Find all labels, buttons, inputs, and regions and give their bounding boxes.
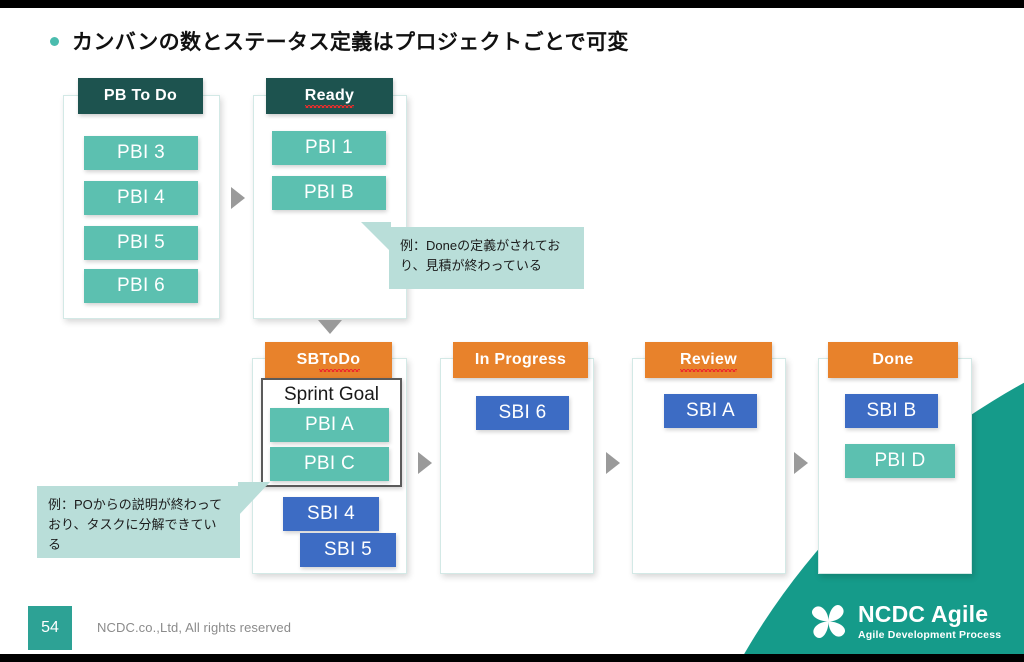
column-header-label: Done bbox=[872, 351, 913, 369]
column-header-label-misspelled: ToDo bbox=[319, 351, 360, 369]
page-title-text: カンバンの数とステータス定義はプロジェクトごとで可変 bbox=[72, 26, 629, 56]
card-sbi-5[interactable]: SBI 5 bbox=[300, 533, 396, 567]
card-label: SBI 6 bbox=[499, 402, 547, 424]
column-header-ready[interactable]: Ready bbox=[266, 78, 393, 114]
card-sbi-6[interactable]: SBI 6 bbox=[476, 396, 569, 430]
page-number: 54 bbox=[41, 619, 59, 637]
callout-sb-todo-definition: 例：POからの説明が終わっており、タスクに分解できている bbox=[37, 486, 240, 558]
logo-title: NCDC Agile bbox=[858, 603, 1001, 626]
flow-arrow-in-progress-to-review bbox=[606, 452, 620, 474]
page-number-badge: 54 bbox=[28, 606, 72, 650]
logo-text-block: NCDC Agile Agile Development Process bbox=[858, 603, 1001, 641]
card-pbi-4[interactable]: PBI 4 bbox=[84, 181, 198, 215]
card-pbi-6[interactable]: PBI 6 bbox=[84, 269, 198, 303]
column-header-sb-todo[interactable]: SB ToDo bbox=[265, 342, 392, 378]
page-title: カンバンの数とステータス定義はプロジェクトごとで可変 bbox=[50, 26, 629, 56]
card-label: PBI A bbox=[305, 414, 354, 436]
callout-text: 例：POからの説明が終わっており、タスクに分解できている bbox=[48, 497, 222, 552]
column-header-label: Ready bbox=[305, 87, 355, 105]
bullet-icon bbox=[50, 37, 59, 46]
column-header-review[interactable]: Review bbox=[645, 342, 772, 378]
flow-arrow-review-to-done bbox=[794, 452, 808, 474]
flow-arrow-sb-todo-to-in-progress bbox=[418, 452, 432, 474]
flow-arrow-pb-to-ready bbox=[231, 187, 245, 209]
card-label: PBI B bbox=[304, 182, 354, 204]
column-header-in-progress[interactable]: In Progress bbox=[453, 342, 588, 378]
letterbox-bottom bbox=[0, 654, 1024, 662]
pinwheel-logo-icon bbox=[808, 601, 849, 642]
slide-canvas: カンバンの数とステータス定義はプロジェクトごとで可変 PB To Do PBI … bbox=[0, 0, 1024, 662]
logo-tagline: Agile Development Process bbox=[858, 630, 1001, 641]
flow-arrow-ready-to-sb-todo bbox=[318, 320, 342, 334]
column-header-pb-to-do[interactable]: PB To Do bbox=[78, 78, 203, 114]
sprint-goal-label: Sprint Goal bbox=[263, 384, 400, 406]
card-label: SBI B bbox=[866, 400, 916, 422]
letterbox-top bbox=[0, 0, 1024, 8]
card-pbi-d[interactable]: PBI D bbox=[845, 444, 955, 478]
column-header-label-prefix: SB bbox=[297, 351, 320, 369]
card-sbi-4[interactable]: SBI 4 bbox=[283, 497, 379, 531]
card-label: PBI C bbox=[304, 453, 355, 475]
column-panel-review bbox=[632, 358, 786, 574]
copyright-text: NCDC.co.,Ltd, All rights reserved bbox=[97, 620, 291, 635]
card-label: PBI 6 bbox=[117, 275, 165, 297]
callout-ready-definition: 例：Doneの定義がされており、見積が終わっている bbox=[389, 227, 584, 289]
card-pbi-c[interactable]: PBI C bbox=[270, 447, 389, 481]
card-label: PBI 4 bbox=[117, 187, 165, 209]
card-label: PBI 3 bbox=[117, 142, 165, 164]
card-label: SBI 5 bbox=[324, 539, 372, 561]
card-sbi-a[interactable]: SBI A bbox=[664, 394, 757, 428]
callout-text: 例：Doneの定義がされており、見積が終わっている bbox=[400, 238, 560, 273]
column-header-label: In Progress bbox=[475, 351, 566, 369]
callout-tail bbox=[361, 222, 391, 252]
column-panel-in-progress bbox=[440, 358, 594, 574]
ncdc-agile-logo: NCDC Agile Agile Development Process bbox=[808, 601, 1001, 642]
column-header-label: Review bbox=[680, 351, 737, 369]
card-sbi-b[interactable]: SBI B bbox=[845, 394, 938, 428]
card-label: PBI D bbox=[874, 450, 925, 472]
card-label: SBI A bbox=[686, 400, 735, 422]
card-pbi-1[interactable]: PBI 1 bbox=[272, 131, 386, 165]
card-label: PBI 5 bbox=[117, 232, 165, 254]
column-header-label: PB To Do bbox=[104, 87, 177, 105]
card-pbi-b[interactable]: PBI B bbox=[272, 176, 386, 210]
column-header-done[interactable]: Done bbox=[828, 342, 958, 378]
card-label: SBI 4 bbox=[307, 503, 355, 525]
card-pbi-5[interactable]: PBI 5 bbox=[84, 226, 198, 260]
card-pbi-3[interactable]: PBI 3 bbox=[84, 136, 198, 170]
card-pbi-a[interactable]: PBI A bbox=[270, 408, 389, 442]
card-label: PBI 1 bbox=[305, 137, 353, 159]
callout-tail bbox=[238, 482, 270, 516]
